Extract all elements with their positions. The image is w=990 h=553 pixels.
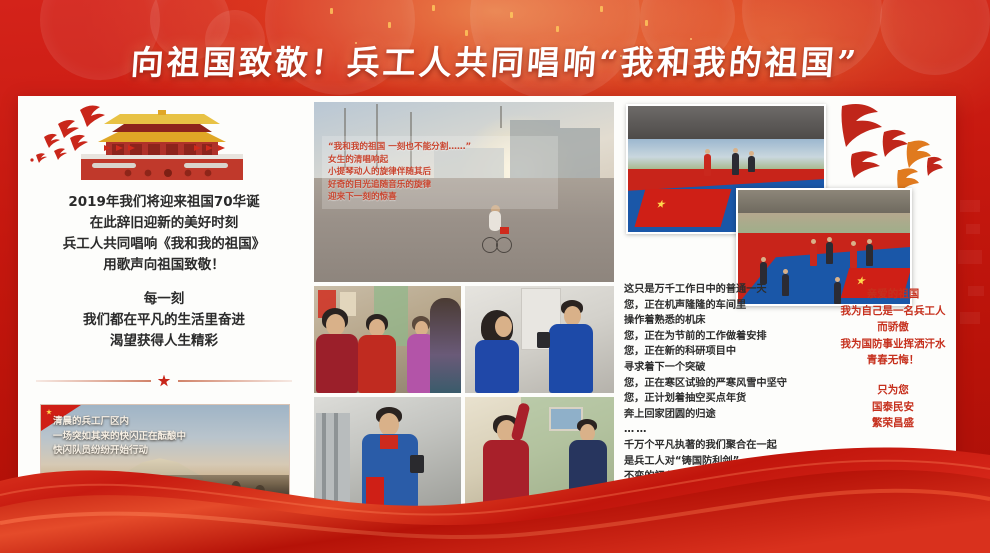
- chinese-flag-on-floor: [634, 189, 731, 227]
- person-body: [316, 334, 358, 393]
- hall-person: [732, 153, 739, 175]
- body-line: 操作着熟悉的机床: [624, 313, 824, 329]
- body-line: 您，正在新的科研项目中: [624, 344, 824, 360]
- person-head: [564, 306, 581, 326]
- body-line: 您，正计划着抽空买点年货: [624, 391, 824, 407]
- photo-worker-with-flag: [314, 397, 461, 508]
- person-head: [495, 316, 512, 337]
- slogan-line: 我为自己是一名兵工人: [830, 303, 956, 320]
- decor-block: [960, 312, 980, 324]
- decor-block: [968, 286, 984, 296]
- slogan-line: 只为您: [830, 382, 956, 399]
- person-body: [358, 335, 396, 393]
- hall-mural-wall: [628, 139, 824, 169]
- page-title-bar: 向祖国致敬！兵工人共同唱响“我和我的祖国”: [0, 26, 990, 94]
- sparkle: [330, 8, 333, 14]
- caption-line: 一场突如其来的快闪正在酝酿中: [53, 430, 278, 445]
- photo-overhang-strip: [447, 514, 747, 540]
- caption-line: 清晨的兵工厂区内: [53, 415, 278, 430]
- body-line: 这只是万千工作日中的普通一天: [624, 282, 824, 298]
- person-body: [483, 440, 529, 508]
- hall-person: [760, 262, 767, 284]
- second-line: 渴望获得人生精彩: [28, 331, 300, 352]
- hall-person: [866, 244, 873, 266]
- tiananmen-gate-illustration: [24, 100, 304, 184]
- divider-line-left: [36, 380, 151, 382]
- divider-line-right: [178, 380, 293, 382]
- slogan-block-1: 亲爱的祖国 我为自己是一名兵工人 而骄傲 我为国防事业挥洒汗水 青春无悔！: [830, 286, 956, 369]
- hall-person: [850, 246, 857, 268]
- right-body-text: 这只是万千工作日中的普通一天 您，正在机声隆隆的车间里 操作着熟悉的机床 您，正…: [624, 282, 824, 485]
- center-column: “我和我的祖国 一刻也不能分割……” 女生的清唱响起 小提琴动人的旋律伴随其后 …: [314, 102, 614, 508]
- decor-block: [960, 200, 980, 212]
- decor-block: [958, 250, 982, 264]
- red-doves-illustration: [824, 98, 952, 190]
- campus-tree: [231, 481, 241, 497]
- second-line: 我们都在平凡的生活里奋进: [28, 310, 300, 331]
- photo-elderly-singing: [314, 286, 461, 393]
- caption-line: 好奇的目光追随音乐的旋律: [328, 179, 552, 192]
- hall-person: [810, 244, 817, 266]
- street-photo-caption: “我和我的祖国 一刻也不能分割……” 女生的清唱响起 小提琴动人的旋律伴随其后 …: [322, 136, 558, 209]
- decor-block: [966, 224, 980, 234]
- hall-person: [704, 154, 711, 176]
- overhang-photo-left: [447, 514, 594, 535]
- ellipsis-line: ……: [624, 422, 824, 438]
- section-divider: [36, 374, 292, 388]
- campus-tree: [57, 481, 67, 497]
- body-line: 您，正在寒区试验的严寒风雪中坚守: [624, 376, 824, 392]
- street-building: [560, 128, 600, 178]
- intro-line: 2019年我们将迎来祖国70华诞: [28, 192, 300, 213]
- phone-held: [410, 455, 424, 473]
- slogan-line: 而骄傲: [830, 319, 956, 336]
- person-body: [475, 340, 519, 393]
- hall-person: [826, 242, 833, 264]
- person-silhouette: [430, 298, 461, 393]
- red-star-icon: [158, 375, 171, 388]
- red-scarf: [380, 435, 398, 449]
- content-card: 2019年我们将迎来祖国70华诞 在此辞旧迎新的美好时刻 兵工人共同唱响《我和我…: [18, 96, 956, 514]
- person-body: [569, 440, 607, 508]
- caption-line: 快闪队员纷纷开始行动: [53, 444, 278, 459]
- left-column: 2019年我们将迎来祖国70华诞 在此辞旧迎新的美好时刻 兵工人共同唱响《我和我…: [18, 96, 310, 514]
- shelf-unit: [334, 413, 338, 508]
- sparkle: [432, 5, 435, 11]
- body-line: 您，正在为节前的工作做着安排: [624, 329, 824, 345]
- slogan-line: 青春无悔！: [830, 352, 956, 369]
- body-line: 寻求着下一个突破: [624, 360, 824, 376]
- bicycle-basket: [500, 227, 509, 234]
- caption-line: 迎来下一刻的惊喜: [328, 191, 552, 204]
- intro-line: 用歌声向祖国致敬！: [28, 255, 300, 276]
- hall-ceiling: [738, 190, 910, 213]
- page-title: 向祖国致敬！兵工人共同唱响“我和我的祖国”: [129, 36, 860, 84]
- sparkle: [510, 12, 513, 18]
- person-head: [326, 314, 345, 336]
- caption-line: 小提琴动人的旋律伴随其后: [328, 166, 552, 179]
- intro-line: 在此辞旧迎新的美好时刻: [28, 213, 300, 234]
- hall-mural-wall: [738, 213, 910, 234]
- sparkle: [600, 6, 603, 12]
- campus-photo-caption: 清晨的兵工厂区内 一场突如其来的快闪正在酝酿中 快闪队员纷纷开始行动: [53, 415, 278, 459]
- photo-woman-waving-red-hoodie: [465, 397, 614, 508]
- caption-line: 女生的清唱响起: [328, 154, 552, 167]
- hall-ceiling: [628, 106, 824, 139]
- slogan-line: 亲爱的祖国: [830, 286, 956, 303]
- slogan-line: 繁荣昌盛: [830, 415, 956, 432]
- slogan-line: 国泰民安: [830, 399, 956, 416]
- right-column: 这只是万千工作日中的普通一天 您，正在机声隆隆的车间里 操作着熟悉的机床 您，正…: [618, 96, 956, 514]
- body-line: 奔上回家团圆的归途: [624, 407, 824, 423]
- left-intro-text: 2019年我们将迎来祖国70华诞 在此辞旧迎新的美好时刻 兵工人共同唱响《我和我…: [28, 192, 300, 352]
- closing-line: 不变的初心和坚守: [624, 469, 824, 485]
- person-head: [379, 413, 399, 436]
- intro-line: 兵工人共同唱响《我和我的祖国》: [28, 234, 300, 255]
- caption-line: “我和我的祖国 一刻也不能分割……”: [328, 141, 552, 154]
- shelf-unit: [322, 413, 326, 508]
- text-gap: [28, 276, 300, 289]
- body-line: 您，正在机声隆隆的车间里: [624, 298, 824, 314]
- person-body: [549, 324, 593, 393]
- campus-tree: [79, 484, 89, 497]
- slogan-block-2: 只为您 国泰民安 繁荣昌盛: [830, 382, 956, 432]
- slogan-line: 我为国防事业挥洒汗水: [830, 336, 956, 353]
- cyclist-figure: [482, 211, 508, 253]
- photo-grid: [314, 286, 614, 508]
- overhang-photo-right: [598, 514, 747, 535]
- closing-line: 千万个平凡执著的我们聚合在一起: [624, 438, 824, 454]
- photo-street-cyclist: “我和我的祖国 一刻也不能分割……” 女生的清唱响起 小提琴动人的旋律伴随其后 …: [314, 102, 614, 282]
- second-line: 每一刻: [28, 289, 300, 310]
- chinese-flag-small: [366, 477, 384, 508]
- photo-factory-campus-dawn: 清晨的兵工厂区内 一场突如其来的快闪正在酝酿中 快闪队员纷纷开始行动: [40, 404, 290, 502]
- photo-young-workers-bluecoat: [465, 286, 614, 393]
- street-tree: [500, 106, 502, 128]
- phone-held: [537, 332, 550, 348]
- hall-person: [748, 156, 755, 172]
- campus-tree: [255, 485, 265, 497]
- closing-line: 是兵工人对“铸国防利剑”: [624, 454, 824, 470]
